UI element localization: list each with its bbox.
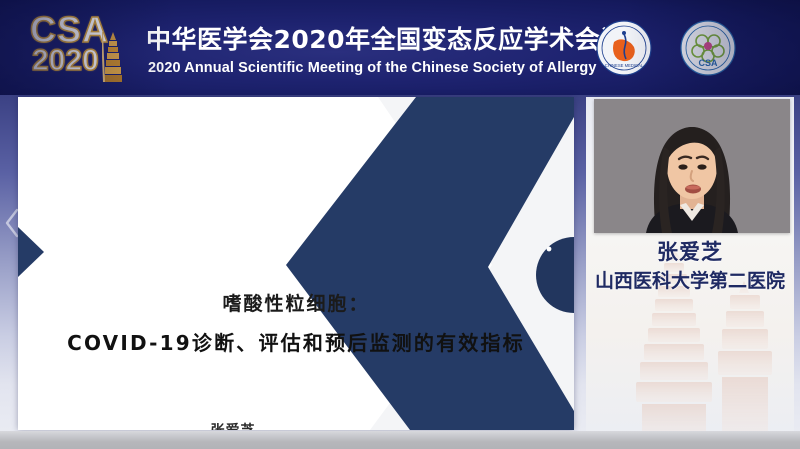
svg-text:CSA: CSA xyxy=(698,58,718,68)
conference-title-cn: 中华医学会2020年全国变态反应学术会议 xyxy=(146,20,626,56)
svg-text:CHINESE MEDICAL: CHINESE MEDICAL xyxy=(605,63,644,68)
bottom-bar xyxy=(0,431,800,449)
csa-logo-year: 2020 xyxy=(32,44,99,78)
conference-title-en: 2020 Annual Scientific Meeting of the Ch… xyxy=(148,60,596,76)
slide-title-line1: 嗜酸性粒细胞： xyxy=(18,289,574,316)
csa-logo-badge: CSA xyxy=(680,20,736,76)
slide-decoration-shapes xyxy=(18,97,574,430)
speaker-affiliation: 山西医科大学第二医院 xyxy=(580,266,800,293)
presentation-viewer: CSA 2020 中华医学会2020年全国变态反应学术会议 2020 Annua… xyxy=(0,0,800,449)
speaker-name: 张爱芝 xyxy=(586,236,794,266)
slide-title-line2: COVID-19诊断、评估和预后监测的有效指标 xyxy=(18,327,574,356)
cma-logo: CHINESE MEDICAL xyxy=(596,20,652,76)
conference-header-banner: CSA 2020 中华医学会2020年全国变态反应学术会议 2020 Annua… xyxy=(0,0,800,95)
pagoda-icon xyxy=(102,32,124,82)
slide-canvas[interactable]: 嗜酸性粒细胞： COVID-19诊断、评估和预后监测的有效指标 张爱芝 山西医科… xyxy=(18,97,574,430)
speaker-video-frame xyxy=(594,99,790,233)
slide-author: 张爱芝 xyxy=(18,420,448,430)
speaker-video[interactable] xyxy=(594,99,790,233)
csa-2020-logo: CSA 2020 xyxy=(26,14,141,82)
